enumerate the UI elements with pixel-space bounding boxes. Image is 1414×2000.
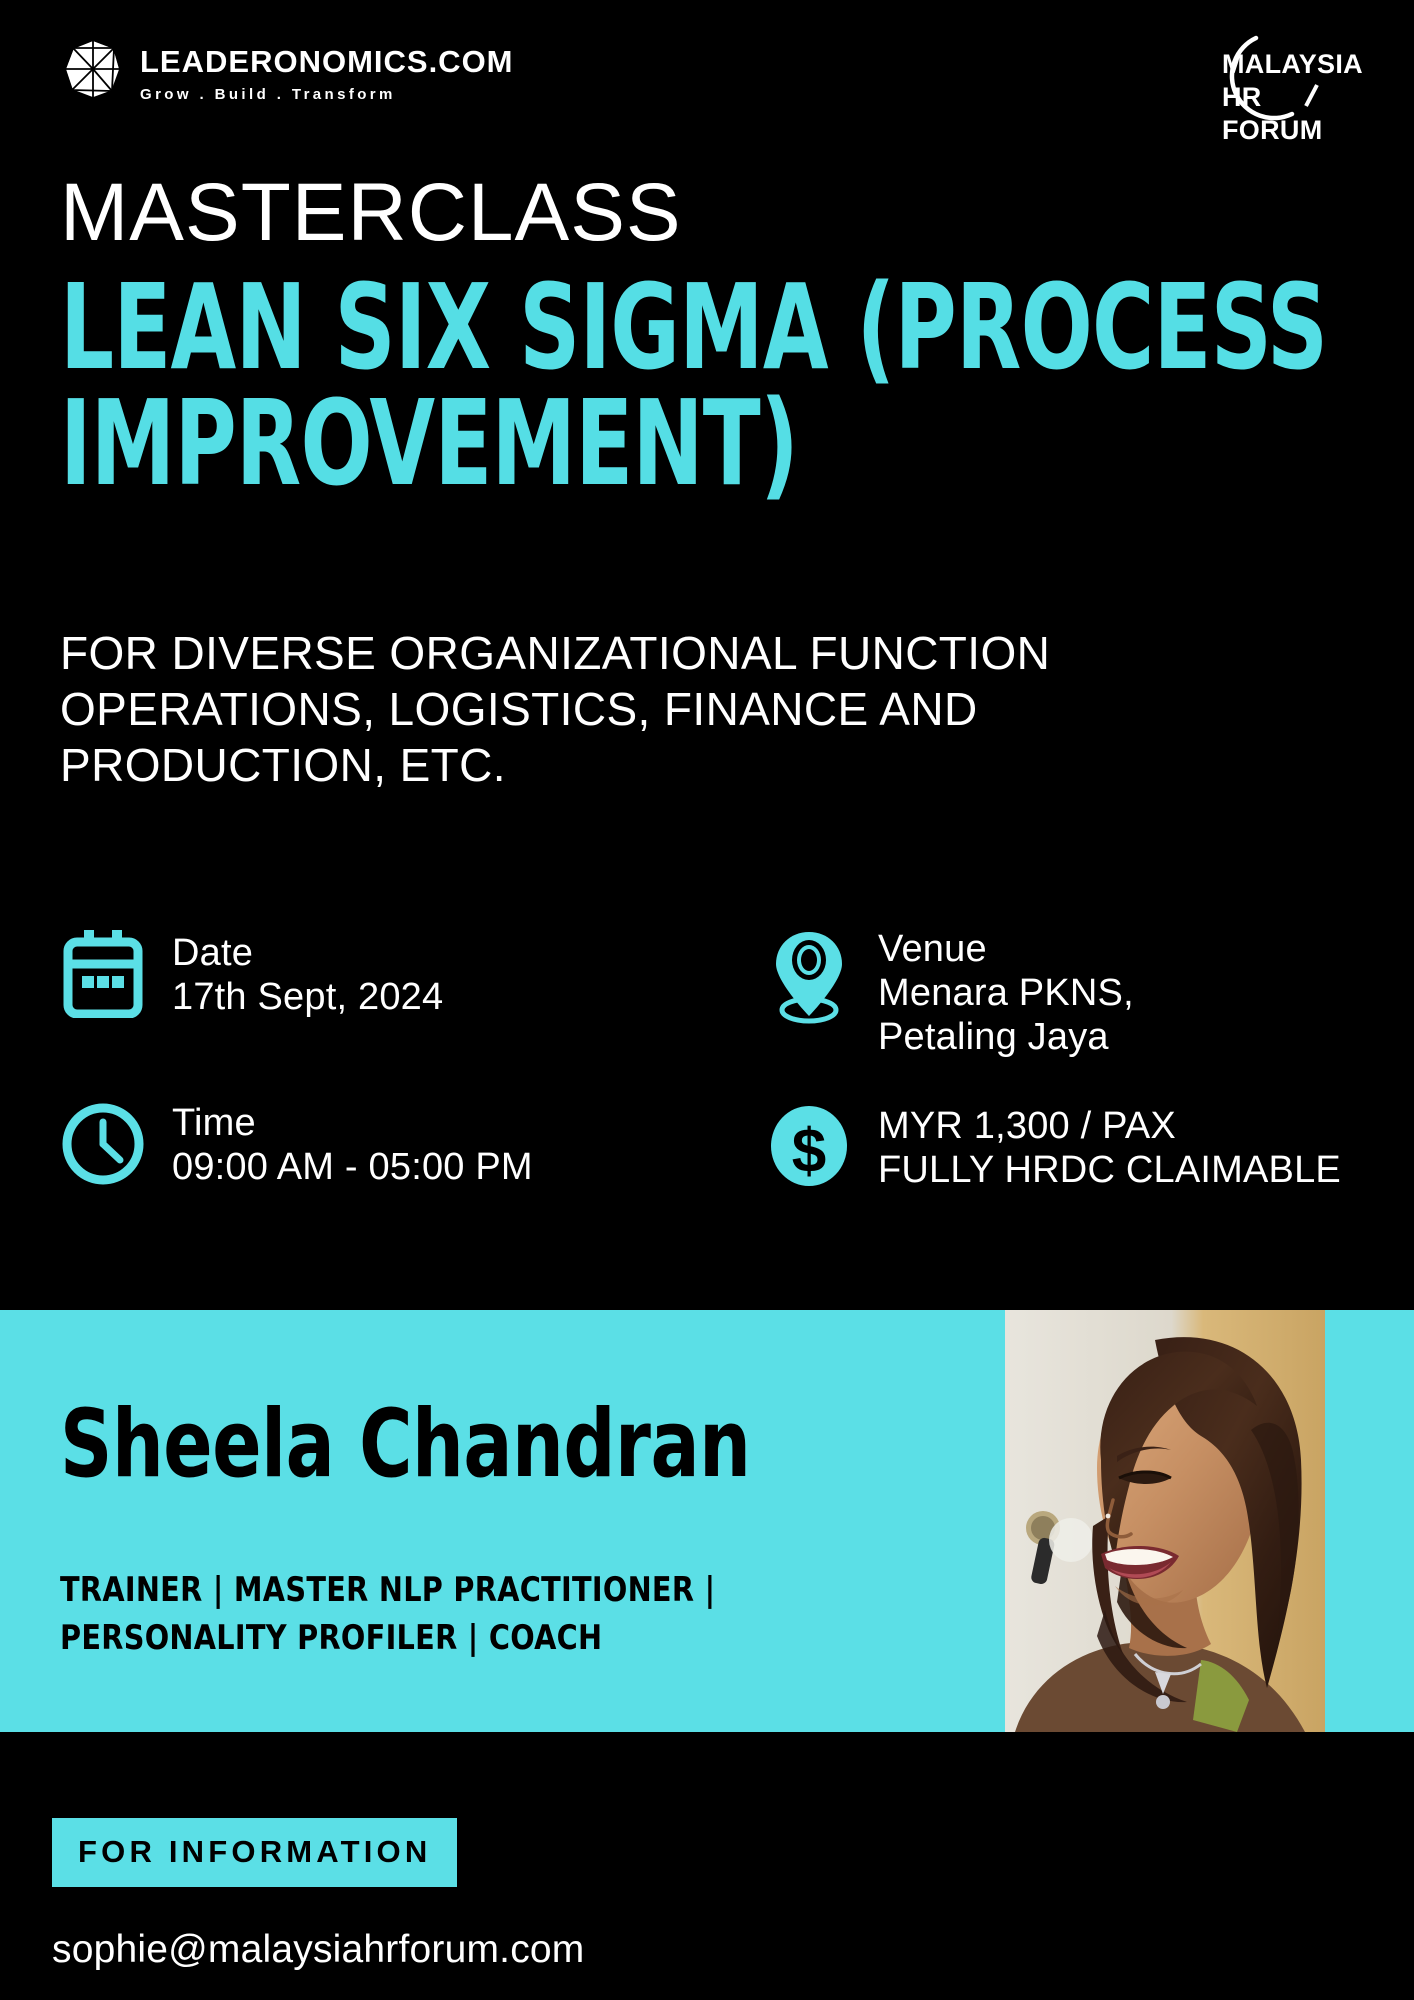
eyebrow-masterclass: MASTERCLASS [60, 172, 682, 254]
hr-forum-line-1: MALAYSIA [1222, 48, 1363, 81]
event-details: Date 17th Sept, 2024 Time 09:00 AM - 05:… [0, 930, 1414, 1260]
speaker-photo [1005, 1310, 1325, 1732]
leaderonomics-tagline: Grow . Build . Transform [140, 86, 514, 103]
location-pin-icon [768, 926, 850, 1031]
hr-forum-line-2: HR FORUM [1222, 81, 1363, 147]
venue-label: Venue [878, 928, 1134, 971]
speaker-band: Sheela Chandran TRAINER | MASTER NLP PRA… [0, 1310, 1414, 1732]
speaker-name: Sheela Chandran [60, 1398, 750, 1492]
venue-value: Menara PKNS, Petaling Jaya [878, 971, 1134, 1059]
detail-venue: Venue Menara PKNS, Petaling Jaya [768, 926, 1134, 1059]
leaderonomics-polyhedron-icon [62, 38, 124, 100]
clock-icon [62, 1100, 144, 1193]
calendar-icon [62, 930, 144, 1023]
detail-time: Time 09:00 AM - 05:00 PM [62, 1100, 533, 1193]
svg-text:$: $ [792, 1117, 826, 1186]
page-title: LEAN SIX SIGMA (PROCESS IMPROVEMENT) [60, 270, 1356, 501]
hr-forum-wordmark: MALAYSIA HR FORUM [1222, 48, 1363, 147]
detail-date: Date 17th Sept, 2024 [62, 930, 443, 1023]
malaysia-hr-forum-logo: MALAYSIA HR FORUM [1184, 28, 1354, 128]
price-value: MYR 1,300 / PAX FULLY HRDC CLAIMABLE [878, 1104, 1341, 1192]
for-information-label: FOR INFORMATION [78, 1836, 431, 1867]
poster-header: LEADERONOMICS.COM Grow . Build . Transfo… [0, 0, 1414, 130]
detail-price: $ MYR 1,300 / PAX FULLY HRDC CLAIMABLE [768, 1102, 1341, 1195]
time-label: Time [172, 1102, 533, 1145]
date-label: Date [172, 932, 443, 975]
leaderonomics-wordmark: LEADERONOMICS.COM [140, 46, 514, 77]
time-value: 09:00 AM - 05:00 PM [172, 1145, 533, 1189]
date-value: 17th Sept, 2024 [172, 975, 443, 1019]
hero-subtitle: FOR DIVERSE ORGANIZATIONAL FUNCTION OPER… [60, 625, 1310, 793]
contact-email[interactable]: sophie@malaysiahrforum.com [52, 1930, 584, 1969]
for-information-badge: FOR INFORMATION [52, 1818, 457, 1887]
leaderonomics-logo: LEADERONOMICS.COM Grow . Build . Transfo… [62, 38, 514, 103]
speaker-credentials: TRAINER | MASTER NLP PRACTITIONER | PERS… [60, 1566, 906, 1663]
dollar-icon: $ [768, 1102, 850, 1195]
